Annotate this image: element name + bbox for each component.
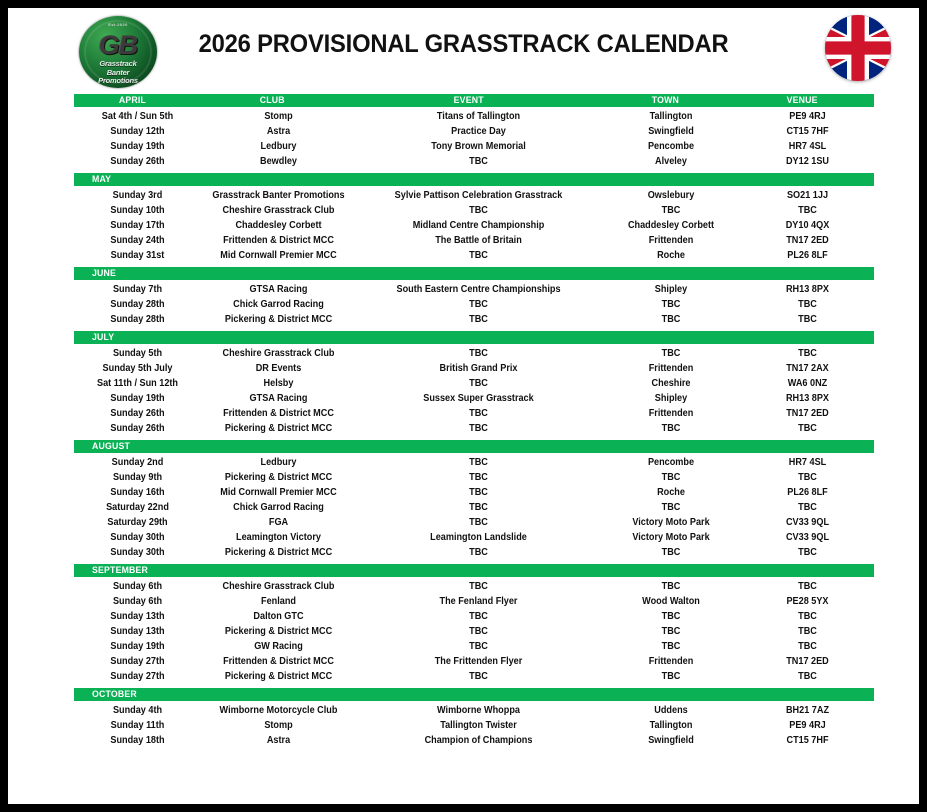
cell-club: Fenland [206,595,350,608]
cell-date: Sunday 5th [78,347,196,360]
cell-date: Sunday 27th [78,670,196,683]
cell-venue: TN17 2ED [746,234,870,247]
cell-town: Pencombe [606,140,736,153]
cell-town: Shipley [606,283,736,296]
cell-event: Sussex Super Grasstrack [365,392,593,405]
cell-town: TBC [606,422,736,435]
cell-club: Pickering & District MCC [206,471,350,484]
logo-line-1: Grasstrack [99,59,136,68]
table-row: Sunday 31stMid Cornwall Premier MCCTBCRo… [74,248,874,263]
table-row: Sunday 5th JulyDR EventsBritish Grand Pr… [74,361,874,376]
cell-venue: TBC [746,546,870,559]
cell-town: Uddens [606,704,736,717]
cell-venue: TBC [746,501,870,514]
cell-event: TBC [365,313,593,326]
cell-date: Sunday 16th [78,486,196,499]
column-header-club: CLUB [201,95,344,106]
column-header-event: EVENT [356,95,581,106]
cell-event: Practice Day [365,125,593,138]
column-header-town: TOWN [601,95,730,106]
cell-club: Chick Garrod Racing [206,501,350,514]
cell-club: Leamington Victory [206,531,350,544]
table-row: Sunday 19thGW RacingTBCTBCTBC [74,639,874,654]
page-title: 2026 PROVISIONAL GRASSTRACK CALENDAR [173,30,753,59]
table-row: Sunday 12thAstraPractice DaySwingfieldCT… [74,124,874,139]
cell-town: Wood Walton [606,595,736,608]
table-row: Sunday 24thFrittenden & District MCCThe … [74,233,874,248]
table-row: Sat 11th / Sun 12thHelsbyTBCCheshireWA6 … [74,376,874,391]
cell-venue: TN17 2AX [746,362,870,375]
cell-venue: TBC [746,610,870,623]
cell-event: Titans of Tallington [365,110,593,123]
cell-club: Mid Cornwall Premier MCC [206,486,350,499]
cell-town: Frittenden [606,362,736,375]
cell-date: Sunday 31st [78,249,196,262]
logo-subtitle: Grasstrack Banter Promotions [79,60,157,86]
month-header-august: AUGUST [74,440,874,453]
table-row: Sunday 28thChick Garrod RacingTBCTBCTBC [74,297,874,312]
cell-town: Victory Moto Park [606,516,736,529]
month-header-june: JUNE [74,267,874,280]
cell-date: Sunday 5th July [78,362,196,375]
cell-venue: TBC [746,422,870,435]
cell-venue: SO21 1JJ [746,189,870,202]
cell-date: Sunday 26th [78,155,196,168]
cell-venue: TN17 2ED [746,407,870,420]
cell-event: TBC [365,625,593,638]
cell-venue: PE9 4RJ [746,110,870,123]
cell-date: Sunday 27th [78,655,196,668]
cell-venue: CV33 9QL [746,516,870,529]
cell-date: Sunday 11th [78,719,196,732]
cell-club: FGA [206,516,350,529]
cell-club: Chick Garrod Racing [206,298,350,311]
cell-town: Roche [606,486,736,499]
month-label-may: MAY [92,174,111,185]
cell-date: Sunday 19th [78,640,196,653]
logo-estd-text: Est.2020 [79,22,157,27]
cell-event: The Fenland Flyer [365,595,593,608]
month-label-august: AUGUST [92,441,130,452]
table-row: Sunday 26thFrittenden & District MCCTBCF… [74,406,874,421]
cell-event: TBC [365,610,593,623]
table-row: Sunday 6thCheshire Grasstrack ClubTBCTBC… [74,579,874,594]
cell-date: Sunday 12th [78,125,196,138]
cell-event: TBC [365,407,593,420]
cell-date: Sunday 4th [78,704,196,717]
cell-club: Pickering & District MCC [206,670,350,683]
cell-venue: TBC [746,625,870,638]
cell-event: TBC [365,249,593,262]
cell-date: Sunday 2nd [78,456,196,469]
month-header-april: APRILCLUBEVENTTOWNVENUE [74,94,874,107]
cell-town: TBC [606,580,736,593]
cell-venue: PE28 5YX [746,595,870,608]
cell-venue: TN17 2ED [746,655,870,668]
cell-club: Chaddesley Corbett [206,219,350,232]
table-row: Sunday 7thGTSA RacingSouth Eastern Centr… [74,282,874,297]
column-header-date: APRIL [74,95,191,106]
cell-club: Stomp [206,719,350,732]
cell-event: Midland Centre Championship [365,219,593,232]
cell-event: TBC [365,155,593,168]
table-row: Sunday 4thWimborne Motorcycle ClubWimbor… [74,703,874,718]
cell-town: Chaddesley Corbett [606,219,736,232]
cell-date: Sunday 13th [78,610,196,623]
cell-club: Ledbury [206,140,350,153]
cell-club: Mid Cornwall Premier MCC [206,249,350,262]
cell-venue: TBC [746,580,870,593]
flag [825,15,897,87]
cell-venue: HR7 4SL [746,140,870,153]
cell-date: Sunday 18th [78,734,196,747]
table-row: Sunday 27thPickering & District MCCTBCTB… [74,669,874,684]
cell-event: TBC [365,377,593,390]
table-row: Sunday 13thPickering & District MCCTBCTB… [74,624,874,639]
column-header-venue: VENUE [741,95,863,106]
cell-club: GW Racing [206,640,350,653]
cell-venue: BH21 7AZ [746,704,870,717]
cell-club: Frittenden & District MCC [206,407,350,420]
cell-venue: CT15 7HF [746,734,870,747]
table-row: Sunday 19thGTSA RacingSussex Super Grass… [74,391,874,406]
cell-venue: DY10 4QX [746,219,870,232]
logo: Est.2020 GB Grasstrack Banter Promotions [75,14,163,94]
table-row: Sunday 27thFrittenden & District MCCThe … [74,654,874,669]
cell-venue: TBC [746,640,870,653]
cell-event: TBC [365,640,593,653]
cell-town: Cheshire [606,377,736,390]
cell-town: TBC [606,347,736,360]
cell-town: Frittenden [606,234,736,247]
cell-event: TBC [365,298,593,311]
calendar-page: Est.2020 GB Grasstrack Banter Promotions… [8,8,919,804]
cell-club: DR Events [206,362,350,375]
cell-town: TBC [606,313,736,326]
cell-event: Sylvie Pattison Celebration Grasstrack [365,189,593,202]
cell-event: TBC [365,546,593,559]
cell-town: Owslebury [606,189,736,202]
table-row: Sunday 13thDalton GTCTBCTBCTBC [74,609,874,624]
cell-venue: WA6 0NZ [746,377,870,390]
cell-venue: TBC [746,204,870,217]
cell-club: Stomp [206,110,350,123]
cell-event: Wimborne Whoppa [365,704,593,717]
table-row: Sat 4th / Sun 5thStompTitans of Tallingt… [74,109,874,124]
table-row: Sunday 16thMid Cornwall Premier MCCTBCRo… [74,485,874,500]
cell-venue: TBC [746,347,870,360]
cell-venue: HR7 4SL [746,456,870,469]
cell-date: Sat 4th / Sun 5th [78,110,196,123]
cell-event: TBC [365,501,593,514]
grasstrack-banter-promotions-logo-icon: Est.2020 GB Grasstrack Banter Promotions [79,16,157,88]
table-row: Sunday 11thStompTallington TwisterTallin… [74,718,874,733]
cell-venue: TBC [746,298,870,311]
cell-date: Sat 11th / Sun 12th [78,377,196,390]
cell-venue: PE9 4RJ [746,719,870,732]
month-label-july: JULY [92,332,114,343]
cell-venue: TBC [746,670,870,683]
cell-club: Astra [206,734,350,747]
cell-date: Sunday 28th [78,313,196,326]
calendar-table: APRILCLUBEVENTTOWNVENUESat 4th / Sun 5th… [8,94,919,748]
cell-club: Pickering & District MCC [206,422,350,435]
cell-date: Sunday 6th [78,580,196,593]
table-row: Sunday 30thPickering & District MCCTBCTB… [74,545,874,560]
cell-town: Victory Moto Park [606,531,736,544]
table-row: Sunday 5thCheshire Grasstrack ClubTBCTBC… [74,346,874,361]
cell-date: Sunday 3rd [78,189,196,202]
cell-town: Frittenden [606,407,736,420]
cell-town: TBC [606,471,736,484]
cell-date: Sunday 19th [78,392,196,405]
cell-club: Cheshire Grasstrack Club [206,204,350,217]
cell-club: Pickering & District MCC [206,546,350,559]
cell-event: TBC [365,422,593,435]
table-row: Sunday 28thPickering & District MCCTBCTB… [74,312,874,327]
cell-club: Wimborne Motorcycle Club [206,704,350,717]
cell-town: Frittenden [606,655,736,668]
cell-date: Sunday 26th [78,407,196,420]
cell-event: TBC [365,580,593,593]
table-row: Sunday 26thBewdleyTBCAlveleyDY12 1SU [74,154,874,169]
cell-date: Sunday 9th [78,471,196,484]
cell-town: TBC [606,298,736,311]
cell-event: Tony Brown Memorial [365,140,593,153]
cell-venue: TBC [746,471,870,484]
cell-event: The Frittenden Flyer [365,655,593,668]
table-row: Sunday 19thLedburyTony Brown MemorialPen… [74,139,874,154]
cell-town: Swingfield [606,734,736,747]
cell-date: Sunday 10th [78,204,196,217]
cell-event: TBC [365,471,593,484]
cell-event: TBC [365,516,593,529]
cell-date: Sunday 6th [78,595,196,608]
cell-venue: TBC [746,313,870,326]
cell-club: Frittenden & District MCC [206,234,350,247]
cell-town: TBC [606,670,736,683]
cell-venue: CT15 7HF [746,125,870,138]
cell-event: British Grand Prix [365,362,593,375]
cell-date: Sunday 30th [78,546,196,559]
cell-town: Tallington [606,719,736,732]
table-row: Sunday 3rdGrasstrack Banter PromotionsSy… [74,188,874,203]
logo-initials: GB [79,32,157,59]
table-row: Saturday 22ndChick Garrod RacingTBCTBCTB… [74,500,874,515]
cell-event: Leamington Landslide [365,531,593,544]
month-header-july: JULY [74,331,874,344]
cell-club: Pickering & District MCC [206,625,350,638]
cell-date: Saturday 29th [78,516,196,529]
cell-date: Sunday 26th [78,422,196,435]
cell-club: Helsby [206,377,350,390]
table-row: Sunday 9thPickering & District MCCTBCTBC… [74,470,874,485]
month-header-october: OCTOBER [74,688,874,701]
cell-venue: DY12 1SU [746,155,870,168]
page-header: Est.2020 GB Grasstrack Banter Promotions… [8,8,919,94]
cell-event: TBC [365,456,593,469]
month-label-september: SEPTEMBER [92,565,148,576]
month-label-june: JUNE [92,268,116,279]
cell-date: Saturday 22nd [78,501,196,514]
cell-club: Dalton GTC [206,610,350,623]
cell-event: TBC [365,347,593,360]
logo-line-2: Banter [107,68,130,77]
cell-event: The Battle of Britain [365,234,593,247]
cell-venue: RH13 8PX [746,283,870,296]
cell-venue: PL26 8LF [746,249,870,262]
cell-event: South Eastern Centre Championships [365,283,593,296]
cell-club: Grasstrack Banter Promotions [206,189,350,202]
table-row: Sunday 30thLeamington VictoryLeamington … [74,530,874,545]
cell-town: TBC [606,501,736,514]
cell-event: TBC [365,670,593,683]
cell-club: Ledbury [206,456,350,469]
table-row: Sunday 18thAstraChampion of ChampionsSwi… [74,733,874,748]
cell-event: Tallington Twister [365,719,593,732]
cell-town: TBC [606,204,736,217]
cell-town: Swingfield [606,125,736,138]
cell-town: Pencombe [606,456,736,469]
cell-venue: RH13 8PX [746,392,870,405]
cell-date: Sunday 28th [78,298,196,311]
cell-club: GTSA Racing [206,392,350,405]
cell-town: Shipley [606,392,736,405]
cell-date: Sunday 19th [78,140,196,153]
cell-club: Astra [206,125,350,138]
cell-town: TBC [606,640,736,653]
cell-event: TBC [365,486,593,499]
cell-venue: PL26 8LF [746,486,870,499]
cell-town: TBC [606,625,736,638]
table-row: Sunday 26thPickering & District MCCTBCTB… [74,421,874,436]
table-row: Sunday 2ndLedburyTBCPencombeHR7 4SL [74,455,874,470]
cell-club: GTSA Racing [206,283,350,296]
cell-town: Roche [606,249,736,262]
cell-venue: CV33 9QL [746,531,870,544]
cell-date: Sunday 17th [78,219,196,232]
cell-date: Sunday 7th [78,283,196,296]
cell-club: Frittenden & District MCC [206,655,350,668]
cell-town: TBC [606,546,736,559]
month-header-may: MAY [74,173,874,186]
cell-event: Champion of Champions [365,734,593,747]
cell-club: Cheshire Grasstrack Club [206,347,350,360]
cell-date: Sunday 13th [78,625,196,638]
month-header-september: SEPTEMBER [74,564,874,577]
cell-town: Alveley [606,155,736,168]
cell-club: Cheshire Grasstrack Club [206,580,350,593]
cell-club: Bewdley [206,155,350,168]
union-jack-flag-icon [825,15,891,81]
table-row: Sunday 10thCheshire Grasstrack ClubTBCTB… [74,203,874,218]
logo-line-3: Promotions [98,76,138,85]
cell-event: TBC [365,204,593,217]
table-row: Sunday 17thChaddesley CorbettMidland Cen… [74,218,874,233]
cell-date: Sunday 30th [78,531,196,544]
cell-town: Tallington [606,110,736,123]
cell-town: TBC [606,610,736,623]
table-row: Sunday 6thFenlandThe Fenland FlyerWood W… [74,594,874,609]
month-label-october: OCTOBER [92,689,137,700]
cell-date: Sunday 24th [78,234,196,247]
table-row: Saturday 29thFGATBCVictory Moto ParkCV33… [74,515,874,530]
cell-club: Pickering & District MCC [206,313,350,326]
